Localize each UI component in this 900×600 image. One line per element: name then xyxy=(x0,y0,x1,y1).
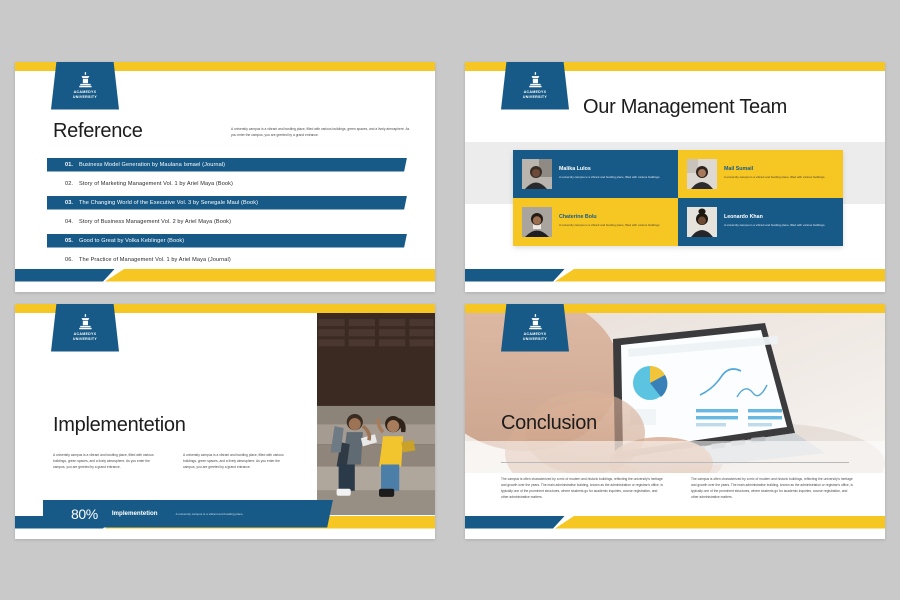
students-photo xyxy=(317,313,435,515)
stat-label: Implementetion xyxy=(112,510,158,517)
item-number: 03. xyxy=(47,200,79,206)
list-item[interactable]: 05.Good to Great by Volka Keblinger (Boo… xyxy=(47,234,407,248)
member-description: A university campus is a vibrant and bus… xyxy=(724,223,825,228)
item-text: The Practice of Management Vol. 1 by Ari… xyxy=(79,257,231,263)
portrait-photo-icon xyxy=(687,207,717,237)
slide-reference[interactable]: ACAMEDYX UNIVERSITY Reference A universi… xyxy=(15,62,435,292)
university-crest-icon xyxy=(79,314,92,330)
page-title: Our Management Team xyxy=(583,96,787,119)
item-number: 06. xyxy=(47,257,79,263)
item-number: 01. xyxy=(47,162,79,168)
team-grid: Malika Lulos A university campus is a vi… xyxy=(513,150,843,246)
avatar xyxy=(522,159,552,189)
slide3-column-1: A university campus is a vibrant and bus… xyxy=(53,452,161,470)
bottom-blue-shape xyxy=(465,269,565,282)
stat-description: A university campus is a vibrant and bus… xyxy=(176,512,244,516)
slide1-intro-paragraph: A university campus is a vibrant and bus… xyxy=(231,126,411,138)
slide-conclusion[interactable]: ACAMEDYX UNIVERSITY Conclusion The campu… xyxy=(465,304,885,539)
page-title: Reference xyxy=(53,120,143,143)
page-title: Conclusion xyxy=(501,412,597,435)
item-text: The Changing World of the Executive Vol.… xyxy=(79,200,258,206)
slide3-columns: A university campus is a vibrant and bus… xyxy=(53,452,293,470)
logo-badge: ACAMEDYX UNIVERSITY xyxy=(501,304,569,352)
list-item[interactable]: 06.The Practice of Management Vol. 1 by … xyxy=(47,253,407,267)
slide-implementation[interactable]: ACAMEDYX UNIVERSITY Implementetion A uni… xyxy=(15,304,435,539)
stat-value: 80% xyxy=(71,506,98,522)
member-name: Chaterine Bolu xyxy=(559,214,660,220)
list-item[interactable]: 03.The Changing World of the Executive V… xyxy=(47,196,407,210)
divider xyxy=(501,462,849,463)
list-item[interactable]: 01.Business Model Generation by Maulana … xyxy=(47,158,407,172)
logo-line-2: UNIVERSITY xyxy=(73,337,97,341)
slide4-column-2: The campus is often characterized by a m… xyxy=(691,476,855,500)
slide-management-team[interactable]: ACAMEDYX UNIVERSITY Our Management Team xyxy=(465,62,885,292)
avatar xyxy=(687,159,717,189)
team-member-card[interactable]: Chaterine Bolu A university campus is a … xyxy=(513,198,678,246)
logo-badge: ACAMEDYX UNIVERSITY xyxy=(51,62,119,110)
member-name: Leonardo Khan xyxy=(724,214,825,220)
reference-list: 01.Business Model Generation by Maulana … xyxy=(47,158,407,267)
avatar xyxy=(522,207,552,237)
slide-deck: ACAMEDYX UNIVERSITY Reference A universi… xyxy=(0,0,900,600)
page-title: Implementetion xyxy=(53,414,186,437)
item-number: 04. xyxy=(47,219,79,225)
team-member-card[interactable]: Mail Sumail A university campus is a vib… xyxy=(678,150,843,198)
portrait-photo-icon xyxy=(687,159,717,189)
bottom-blue-shape xyxy=(465,516,565,529)
bottom-blue-shape xyxy=(15,269,115,282)
logo-line-2: UNIVERSITY xyxy=(73,95,97,99)
member-description: A university campus is a vibrant and bus… xyxy=(724,175,825,180)
university-crest-icon xyxy=(529,72,542,88)
item-text: Good to Great by Volka Keblinger (Book) xyxy=(79,238,184,244)
bottom-accent xyxy=(465,269,885,282)
bottom-yellow-shape xyxy=(555,516,885,529)
students-on-steps-photo xyxy=(317,313,435,515)
university-crest-icon xyxy=(529,314,542,330)
logo-badge: ACAMEDYX UNIVERSITY xyxy=(51,304,119,352)
slide1-header-row: Reference A university campus is a vibra… xyxy=(53,120,411,143)
team-member-card[interactable]: Leonardo Khan A university campus is a v… xyxy=(678,198,843,246)
portrait-photo-icon xyxy=(522,207,552,237)
bottom-yellow-shape xyxy=(555,269,885,282)
item-text: Story of Business Management Vol. 2 by A… xyxy=(79,219,231,225)
university-crest-icon xyxy=(79,72,92,88)
list-item[interactable]: 04.Story of Business Management Vol. 2 b… xyxy=(47,215,407,229)
slide4-column-1: The campus is often characterized by a m… xyxy=(501,476,665,500)
list-item[interactable]: 02.Story of Marketing Management Vol. 1 … xyxy=(47,177,407,191)
item-number: 05. xyxy=(47,238,79,244)
member-description: A university campus is a vibrant and bus… xyxy=(559,223,660,228)
member-description: A university campus is a vibrant and bus… xyxy=(559,175,660,180)
avatar xyxy=(687,207,717,237)
item-text: Business Model Generation by Maulana Ism… xyxy=(79,162,225,168)
item-number: 02. xyxy=(47,181,79,187)
logo-badge: ACAMEDYX UNIVERSITY xyxy=(501,62,569,110)
team-member-card[interactable]: Malika Lulos A university campus is a vi… xyxy=(513,150,678,198)
bottom-yellow-shape xyxy=(105,269,435,282)
slide4-columns: The campus is often characterized by a m… xyxy=(501,476,855,500)
portrait-photo-icon xyxy=(522,159,552,189)
slide3-column-2: A university campus is a vibrant and bus… xyxy=(183,452,291,470)
stat-bar: 80% Implementetion A university campus i… xyxy=(43,500,333,528)
member-name: Malika Lulos xyxy=(559,166,660,172)
bottom-accent xyxy=(465,516,885,529)
item-text: Story of Marketing Management Vol. 1 by … xyxy=(79,181,233,187)
member-name: Mail Sumail xyxy=(724,166,825,172)
logo-line-2: UNIVERSITY xyxy=(523,95,547,99)
logo-line-2: UNIVERSITY xyxy=(523,337,547,341)
bottom-accent xyxy=(15,269,435,282)
